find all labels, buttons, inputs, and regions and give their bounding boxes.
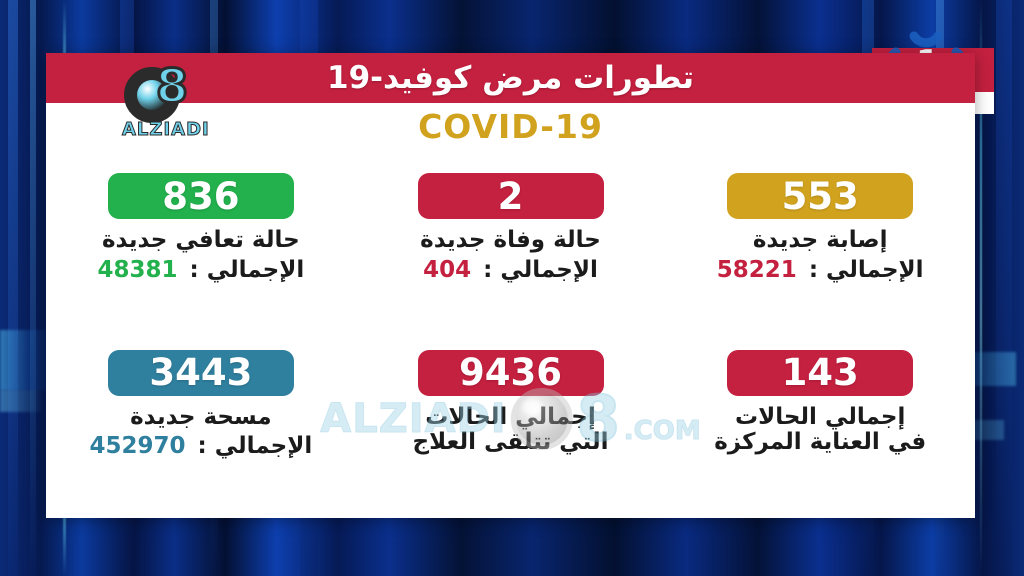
stat-total: الإجمالي : 48381 (97, 257, 304, 283)
stat-value: 836 (162, 178, 239, 215)
stat-total: الإجمالي : 58221 (717, 257, 924, 283)
stat-card-new-recoveries: 836 حالة تعافي جديدة الإجمالي : 48381 (46, 165, 356, 283)
stat-total-label: الإجمالي : (189, 257, 304, 283)
page-title: تطورات مرض كوفيد-19 (327, 60, 694, 96)
stat-label-line1: حالة تعافي جديدة (102, 227, 300, 253)
stat-total-label: الإجمالي : (809, 257, 924, 283)
stat-total-value: 404 (423, 257, 471, 283)
stat-total: الإجمالي : 452970 (89, 433, 312, 459)
stat-label-line1: مسحة جديدة (130, 404, 272, 430)
stat-total-value: 58221 (717, 257, 797, 283)
stat-total: الإجمالي : 404 (423, 257, 598, 283)
stat-card-new-cases: 553 إصابة جديدة الإجمالي : 58221 (665, 165, 975, 283)
covid-stats-panel: تطورات مرض كوفيد-19 COVID-19 8 ALZIADI 5… (46, 53, 975, 518)
stat-card-new-deaths: 2 حالة وفاة جديدة الإجمالي : 404 (356, 165, 666, 283)
stat-badge: 9436 (418, 350, 604, 396)
stat-label: حالة تعافي جديدة (102, 228, 300, 254)
stat-badge: 836 (108, 173, 294, 219)
stat-value: 9436 (459, 354, 562, 391)
background-streak (30, 0, 36, 576)
stat-label-line2: التي تتلقى العلاج (413, 430, 609, 456)
stat-label: إجمالي الحالات التي تتلقى العلاج (413, 405, 609, 457)
stat-label-line1: إجمالي الحالات (735, 404, 905, 430)
stat-card-new-swabs: 3443 مسحة جديدة الإجمالي : 452970 (46, 342, 356, 460)
stat-label-line1: إصابة جديدة (753, 227, 888, 253)
stat-total-value: 452970 (89, 433, 185, 459)
stat-label: إصابة جديدة (753, 228, 888, 254)
stat-badge: 3443 (108, 350, 294, 396)
stat-card-icu-cases: 143 إجمالي الحالات في العناية المركزة (665, 342, 975, 457)
stat-badge: 143 (727, 350, 913, 396)
brand-name: ALZIADI (122, 119, 210, 140)
stat-total-label: الإجمالي : (483, 257, 598, 283)
stats-grid: 553 إصابة جديدة الإجمالي : 58221 2 حالة … (46, 157, 975, 518)
stat-value: 3443 (149, 354, 252, 391)
stat-badge: 553 (727, 173, 913, 219)
stat-total-value: 48381 (97, 257, 177, 283)
background-streak (8, 0, 18, 576)
stat-value: 2 (498, 178, 524, 215)
stat-label: إجمالي الحالات في العناية المركزة (714, 405, 926, 457)
stat-label: مسحة جديدة (130, 405, 272, 431)
brand-q8-mark: 8 (156, 63, 188, 109)
alziadi-brand-logo: 8 ALZIADI (116, 63, 226, 141)
stat-label-line1: إجمالي الحالات (425, 404, 595, 430)
stat-card-under-treatment: 9436 إجمالي الحالات التي تتلقى العلاج (356, 342, 666, 457)
stat-label: حالة وفاة جديدة (420, 228, 601, 254)
stat-total-label: الإجمالي : (197, 433, 312, 459)
stat-label-line2: في العناية المركزة (714, 430, 926, 456)
stat-label-line1: حالة وفاة جديدة (420, 227, 601, 253)
city-lights-glow (0, 390, 44, 412)
stat-badge: 2 (418, 173, 604, 219)
stat-value: 553 (782, 178, 859, 215)
stat-value: 143 (782, 354, 859, 391)
